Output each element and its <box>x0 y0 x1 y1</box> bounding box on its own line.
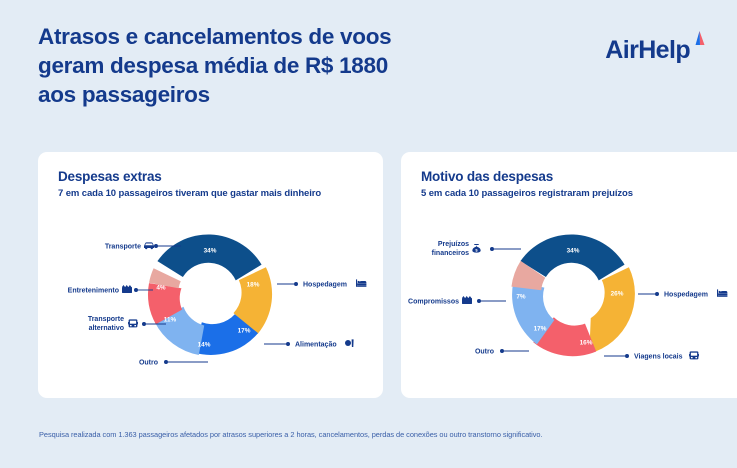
card-despesas-extras: Despesas extras 7 em cada 10 passageiros… <box>38 152 383 398</box>
slice-value-transporte-alternativo: 11% <box>164 317 177 324</box>
callout-label-prejuizos-financeiros-line1: Prejuízos <box>438 241 469 248</box>
callout-outro[interactable]: Outro <box>139 360 208 367</box>
callout-alimentacao[interactable]: Alimentação <box>264 339 354 348</box>
car-icon <box>144 242 154 249</box>
brand-name: AirHelp <box>605 38 690 63</box>
headline-line-1: Atrasos e cancelamentos de voos <box>38 22 508 51</box>
slice-value-hospedagem-2: 26% <box>611 291 624 298</box>
slice-value-transporte: 34% <box>204 248 217 255</box>
header: Atrasos e cancelamentos de voos geram de… <box>38 22 707 132</box>
slice-value-outro: 14% <box>198 342 211 349</box>
callout-label-viagens-locais: Viagens locais <box>634 354 683 361</box>
airhelp-triangle-logo-icon <box>691 30 707 50</box>
callout-hospedagem[interactable]: Hospedagem <box>277 279 366 288</box>
headline-line-3: aos passageiros <box>38 80 508 109</box>
callout-label-prejuizos-financeiros-line2: financeiros <box>432 250 469 257</box>
donut-chart-despesas-extras: 34% 18% 17% 14% 11% 4% Transporte <box>38 204 383 398</box>
headline-line-2: geram despesa média de R$ 1880 <box>38 51 508 80</box>
money-bag-icon: $ <box>472 244 480 253</box>
clapperboard-icon-2 <box>462 296 472 304</box>
bus-icon <box>128 319 138 327</box>
card-1-title: Despesas extras <box>58 169 162 184</box>
callout-entretenimento[interactable]: Entretenimento <box>68 285 153 295</box>
callout-compromissos[interactable]: Compromissos <box>408 296 506 306</box>
slice-value-hospedagem: 18% <box>247 282 260 289</box>
brand-logo: AirHelp <box>605 38 707 63</box>
food-drink-icon <box>345 339 354 347</box>
card-1-subtitle: 7 em cada 10 passageiros tiveram que gas… <box>58 188 321 199</box>
callout-label-hospedagem: Hospedagem <box>303 282 347 289</box>
cards-container: Despesas extras 7 em cada 10 passageiros… <box>38 152 737 398</box>
card-motivo-das-despesas: Motivo das despesas 5 em cada 10 passage… <box>401 152 737 398</box>
infographic-page: Atrasos e cancelamentos de voos geram de… <box>0 0 737 468</box>
slice-value-prejuizos-financeiros: 34% <box>567 248 580 255</box>
callout-hospedagem-2[interactable]: Hospedagem <box>638 289 727 298</box>
callout-label-entretenimento: Entretenimento <box>68 288 119 295</box>
footer-note: Pesquisa realizada com 1.363 passageiros… <box>39 430 707 439</box>
page-title: Atrasos e cancelamentos de voos geram de… <box>38 22 508 109</box>
card-2-subtitle: 5 em cada 10 passageiros registraram pre… <box>421 188 633 199</box>
slice-value-outro-2: 17% <box>534 326 547 333</box>
slice-value-entretenimento: 4% <box>156 285 166 292</box>
callout-label-transporte-alternativo-line2: alternativo <box>89 325 124 332</box>
callout-prejuizos-financeiros[interactable]: Prejuízos financeiros $ <box>432 241 521 257</box>
card-2-title: Motivo das despesas <box>421 169 553 184</box>
callout-label-transporte: Transporte <box>105 244 141 251</box>
callout-label-hospedagem-2: Hospedagem <box>664 292 708 299</box>
slice-value-compromissos: 7% <box>516 294 526 301</box>
bus-icon-2 <box>689 351 699 359</box>
clapperboard-icon <box>122 285 132 293</box>
callout-outro-2[interactable]: Outro <box>475 349 529 356</box>
callout-label-alimentacao: Alimentação <box>295 342 337 349</box>
donut-chart-motivo-das-despesas: 34% 26% 16% 17% 7% Prejuízos financeiros <box>401 204 737 398</box>
slice-value-viagens-locais: 16% <box>580 340 593 347</box>
callout-viagens-locais[interactable]: Viagens locais <box>604 351 699 360</box>
callout-label-outro-2: Outro <box>475 349 494 356</box>
bed-icon-2 <box>717 289 727 296</box>
callout-label-compromissos: Compromissos <box>408 299 459 306</box>
slice-value-alimentacao: 17% <box>238 328 251 335</box>
bed-icon <box>356 279 366 286</box>
callout-label-outro: Outro <box>139 360 158 367</box>
callout-label-transporte-alternativo-line1: Transporte <box>88 316 124 323</box>
